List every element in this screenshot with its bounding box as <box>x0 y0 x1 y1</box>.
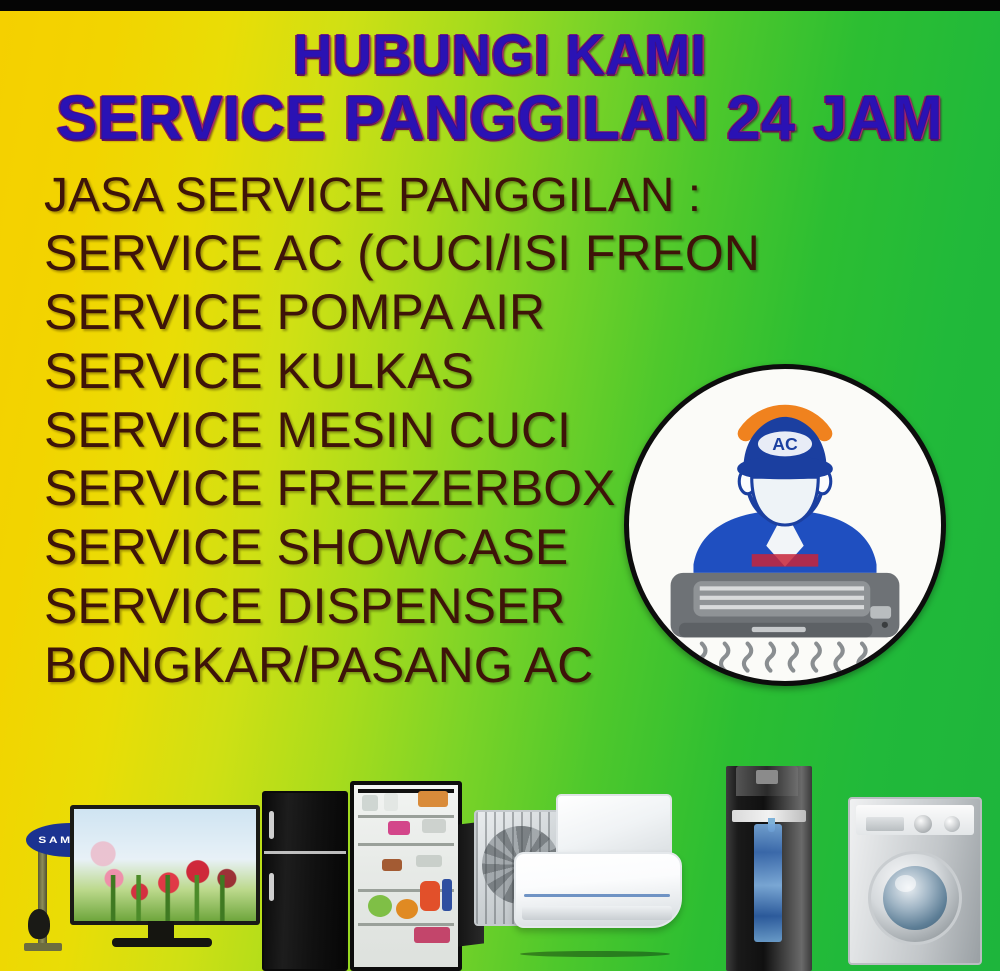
ac-technician-logo: AC <box>624 364 946 686</box>
service-list-item: SERVICE AC (CUCI/ISI FREON <box>44 224 704 283</box>
technician-illustration: AC <box>629 369 941 681</box>
fridge-body <box>262 791 348 971</box>
tv-neck <box>148 921 174 939</box>
television-image: SAMSUNG <box>12 803 252 953</box>
water-dispenser-image <box>726 766 812 971</box>
washer-body <box>848 797 982 965</box>
airflow-icon <box>698 644 865 671</box>
split-air-conditioner-image <box>470 786 680 961</box>
ac-accent-stripe <box>524 894 670 897</box>
fridge-food-item <box>418 791 448 807</box>
ac-louver <box>522 906 672 920</box>
fridge-shelf <box>358 815 454 818</box>
ac-indoor-unit <box>514 852 682 928</box>
service-list-item: BONGKAR/PASANG AC <box>44 636 704 695</box>
fridge-food-item <box>414 927 450 943</box>
fridge-food-item <box>384 793 398 811</box>
appliance-row: SAMSUNG <box>0 756 1000 971</box>
fridge-door-split <box>264 851 346 854</box>
fridge-handle-top <box>269 811 274 839</box>
top-black-border <box>0 0 1000 11</box>
fridge-food-item <box>388 821 410 835</box>
headline-block: HUBUNGI KAMI SERVICE PANGGILAN 24 JAM <box>0 26 1000 151</box>
service-list-item: SERVICE SHOWCASE <box>44 518 704 577</box>
fridge-handle-bottom <box>269 873 274 901</box>
fridge-food-item <box>362 795 378 811</box>
refrigerator-open-image <box>350 781 462 971</box>
fridge-shelf <box>358 843 454 846</box>
tulip-stems <box>74 875 256 921</box>
headline-secondary: SERVICE PANGGILAN 24 JAM <box>15 87 985 151</box>
fridge-food-item <box>368 895 392 917</box>
service-list-item: SERVICE MESIN CUCI <box>44 401 704 460</box>
dispenser-neck <box>756 770 778 784</box>
washer-knob <box>944 816 960 832</box>
sign-foot <box>24 943 62 951</box>
washing-machine-image <box>848 797 982 965</box>
service-list-item: JASA SERVICE PANGGILAN : <box>44 168 704 224</box>
washer-door <box>868 851 962 945</box>
fridge-food-item <box>442 879 452 911</box>
refrigerator-closed-image <box>262 791 348 971</box>
tv-screen <box>70 805 260 925</box>
service-list-item: SERVICE FREEZERBOX <box>44 459 704 518</box>
tv-base <box>112 938 212 947</box>
service-list-item: SERVICE KULKAS <box>44 342 704 401</box>
fridge-food-item <box>396 899 418 919</box>
service-advertisement-poster: HUBUNGI KAMI SERVICE PANGGILAN 24 JAM JA… <box>0 0 1000 971</box>
water-gallon-bottle <box>754 824 782 942</box>
air-conditioner-icon <box>671 573 900 637</box>
fridge-food-item <box>422 819 446 833</box>
washer-program-dial <box>914 815 932 833</box>
washer-door-glass <box>883 866 947 930</box>
cap-badge-text: AC <box>772 434 798 454</box>
washer-detergent-drawer <box>866 817 904 831</box>
fridge-open-frame <box>350 781 462 971</box>
service-list-item: SERVICE DISPENSER <box>44 577 704 636</box>
fridge-food-item <box>416 855 442 867</box>
service-list-item: SERVICE POMPA AIR <box>44 283 704 342</box>
fridge-shelf <box>358 923 454 926</box>
washer-control-panel <box>856 805 974 835</box>
fridge-interior <box>354 785 458 967</box>
fridge-food-item <box>382 859 402 871</box>
service-list: JASA SERVICE PANGGILAN : SERVICE AC (CUC… <box>44 168 704 694</box>
fridge-food-item <box>420 881 440 911</box>
ac-shadow <box>520 951 670 957</box>
sign-base-blob <box>28 909 50 939</box>
headline-primary: HUBUNGI KAMI <box>30 26 970 85</box>
